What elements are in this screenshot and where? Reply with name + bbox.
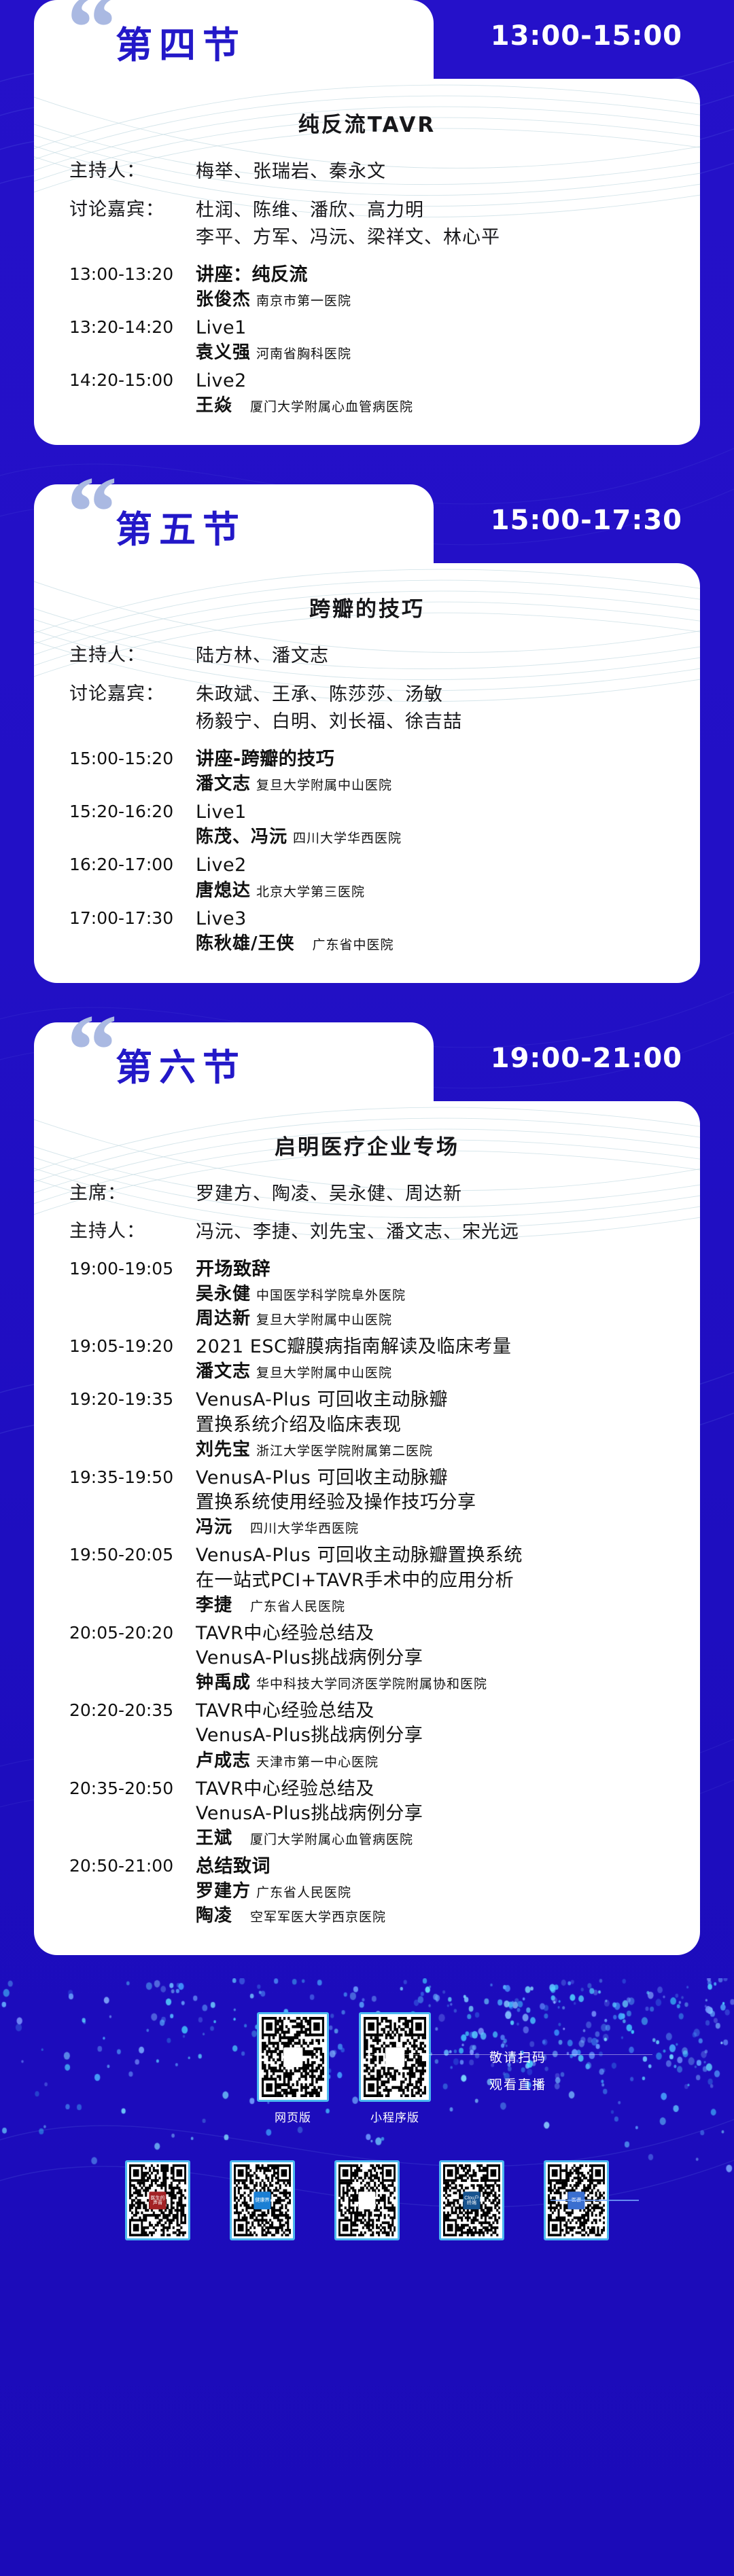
- speaker-name: 王焱: [196, 395, 232, 416]
- qr-logo-icon: 健康界: [254, 2192, 270, 2209]
- partner-qr-code[interactable]: 医生的声音: [125, 2160, 190, 2240]
- primary-qr-block[interactable]: 网页版: [257, 2012, 329, 2125]
- schedule-row: 20:05-20:20 TAVR中心经验总结及VenusA-Plus挑战病例分享…: [69, 1622, 670, 1695]
- qr-code-image: 医生的声音: [129, 2164, 186, 2236]
- primary-qr-block[interactable]: 小程序版: [359, 2012, 431, 2125]
- slot-content: TAVR中心经验总结及VenusA-Plus挑战病例分享 钟禹成华中科技大学同济…: [196, 1622, 670, 1695]
- slot-speaker: 刘先宝浙江大学医学院附属第二医院: [196, 1438, 670, 1462]
- schedule-row: 20:35-20:50 TAVR中心经验总结及VenusA-Plus挑战病例分享…: [69, 1777, 670, 1850]
- slot-title: TAVR中心经验总结及VenusA-Plus挑战病例分享: [196, 1699, 670, 1748]
- slot-speaker: 潘文志复旦大学附属中山医院: [196, 772, 670, 796]
- session-meta-row: 讨论嘉宾： 朱政斌、王承、陈莎莎、汤敏杨毅宁、白明、刘长福、徐吉喆: [69, 681, 670, 736]
- session-time-badge: 15:00-17:30: [491, 505, 682, 536]
- slot-title: Live3: [196, 907, 670, 931]
- qr-caption: 小程序版: [359, 2108, 431, 2125]
- slot-time: 16:20-17:00: [69, 853, 196, 874]
- speaker-organization: 中国医学科学院阜外医院: [256, 1288, 406, 1303]
- session-card: “ 第四节 13:00-15:00: [34, 0, 700, 445]
- slot-content: Live1 陈茂、冯沅四川大学华西医院: [196, 800, 670, 849]
- slot-speaker: 李捷广东省人民医院: [196, 1594, 670, 1617]
- slot-speaker: 潘文志复旦大学附属中山医院: [196, 1360, 670, 1384]
- session-body: 跨瓣的技巧 主持人： 陆方林、潘文志 讨论嘉宾： 朱政斌、王承、陈莎莎、汤敏杨毅…: [34, 563, 700, 983]
- slot-title: VenusA-Plus 可回收主动脉瓣置换系统在一站式PCI+TAVR手术中的应…: [196, 1543, 670, 1592]
- session-meta-names-line: 朱政斌、王承、陈莎莎、汤敏: [196, 681, 462, 709]
- poster-page: “ 第四节 13:00-15:00: [0, 0, 734, 2325]
- scan-hint-line-1: 敬请扫码: [489, 2045, 546, 2072]
- speaker-organization: 天津市第一中心医院: [256, 1755, 379, 1770]
- slot-content: VenusA-Plus 可回收主动脉瓣置换系统在一站式PCI+TAVR手术中的应…: [196, 1543, 670, 1617]
- slot-title: 2021 ESC瓣膜病指南解读及临床考量: [196, 1335, 670, 1359]
- slot-content: Live2 王焱厦门大学附属心血管病医院: [196, 369, 670, 418]
- speaker-organization: 厦门大学附属心血管病医院: [250, 399, 413, 414]
- qr-connector-line: [550, 2200, 639, 2201]
- slot-time: 19:50-20:05: [69, 1543, 196, 1564]
- speaker-organization: 广东省人民医院: [250, 1599, 345, 1614]
- qr-logo-icon: 医生的声音: [149, 2192, 166, 2209]
- slot-title-line: Live2: [196, 369, 670, 393]
- schedule-row: 17:00-17:30 Live3 陈秋雄/王侠广东省中医院: [69, 907, 670, 956]
- slot-title-line: VenusA-Plus挑战病例分享: [196, 1646, 670, 1670]
- slot-title-line: 开场致辞: [196, 1257, 670, 1282]
- session-meta-names-line: 杜润、陈维、潘欣、高力明: [196, 197, 500, 225]
- speaker-organization: 四川大学华西医院: [250, 1521, 359, 1536]
- slot-title: 开场致辞: [196, 1257, 670, 1282]
- session-title: 第四节: [116, 15, 246, 69]
- slot-content: TAVR中心经验总结及VenusA-Plus挑战病例分享 卢成志天津市第一中心医…: [196, 1699, 670, 1772]
- speaker-name: 罗建方: [196, 1881, 251, 1901]
- speaker-name: 刘先宝: [196, 1439, 251, 1460]
- slot-time: 20:50-21:00: [69, 1855, 196, 1876]
- slot-speaker: 袁义强河南省胸科医院: [196, 341, 670, 365]
- session-meta-label: 讨论嘉宾：: [69, 681, 196, 707]
- session-meta-names: 陆方林、潘文志: [196, 643, 329, 670]
- slot-title-line: 讲座：纯反流: [196, 263, 670, 287]
- qr-code-image: Clou户终端: [443, 2164, 500, 2236]
- session-meta-names-line: 梅举、张瑞岩、秦永文: [196, 158, 386, 186]
- speaker-name: 陈秋雄/王侠: [196, 933, 295, 954]
- session-meta-names-line: 杨毅宁、白明、刘长福、徐吉喆: [196, 709, 462, 736]
- speaker-name: 李捷: [196, 1595, 232, 1615]
- slot-speaker: 张俊杰南京市第一医院: [196, 288, 670, 312]
- slot-content: VenusA-Plus 可回收主动脉瓣置换系统介绍及临床表现 刘先宝浙江大学医学…: [196, 1388, 670, 1461]
- speaker-name: 袁义强: [196, 342, 251, 363]
- session-meta-label: 主持人：: [69, 1219, 196, 1245]
- session-card: “ 第五节 15:00-17:30: [34, 484, 700, 983]
- slot-speaker: 陈秋雄/王侠广东省中医院: [196, 932, 670, 956]
- speaker-name: 张俊杰: [196, 289, 251, 310]
- speaker-name: 潘文志: [196, 1361, 251, 1382]
- session-meta-names-line: 陆方林、潘文志: [196, 643, 329, 670]
- slot-content: 讲座：纯反流 张俊杰南京市第一医院: [196, 263, 670, 312]
- session-meta-names: 罗建方、陶凌、吴永健、周达新: [196, 1181, 462, 1209]
- speaker-organization: 空军军医大学西京医院: [250, 1910, 386, 1925]
- session-meta-label: 主持人：: [69, 158, 196, 184]
- slot-time: 13:20-14:20: [69, 316, 196, 337]
- session-rows: 主持人： 梅举、张瑞岩、秦永文 讨论嘉宾： 杜润、陈维、潘欣、高力明李平、方军、…: [34, 147, 700, 418]
- slot-title-line: 总结致词: [196, 1855, 670, 1879]
- session-meta-names: 梅举、张瑞岩、秦永文: [196, 158, 386, 186]
- slot-speaker: 陈茂、冯沅四川大学华西医院: [196, 825, 670, 849]
- speaker-organization: 复旦大学附属中山医院: [256, 1365, 392, 1380]
- speaker-name: 陶凌: [196, 1906, 232, 1926]
- speaker-organization: 厦门大学附属心血管病医院: [250, 1832, 413, 1847]
- slot-title: TAVR中心经验总结及VenusA-Plus挑战病例分享: [196, 1777, 670, 1826]
- session-title: 第五节: [116, 499, 246, 553]
- session-time-badge: 19:00-21:00: [491, 1043, 682, 1074]
- session-meta-row: 讨论嘉宾： 杜润、陈维、潘欣、高力明李平、方军、冯沅、梁祥文、林心平: [69, 197, 670, 252]
- schedule-row: 15:00-15:20 讲座-跨瓣的技巧 潘文志复旦大学附属中山医院: [69, 747, 670, 796]
- slot-content: 总结致词 罗建方广东省人民医院 陶凌空军军医大学西京医院: [196, 1855, 670, 1928]
- schedule-row: 20:20-20:35 TAVR中心经验总结及VenusA-Plus挑战病例分享…: [69, 1699, 670, 1772]
- slot-speaker: 王斌厦门大学附属心血管病医院: [196, 1827, 670, 1850]
- session-header: 第五节 15:00-17:30: [34, 484, 700, 563]
- partner-qr-code[interactable]: Clou户终端: [439, 2160, 504, 2240]
- slot-content: TAVR中心经验总结及VenusA-Plus挑战病例分享 王斌厦门大学附属心血管…: [196, 1777, 670, 1850]
- qr-code-image: 健康界: [234, 2164, 291, 2236]
- slot-title-line: 在一站式PCI+TAVR手术中的应用分析: [196, 1569, 670, 1593]
- speaker-name: 钟禹成: [196, 1672, 251, 1693]
- schedule-row: 19:35-19:50 VenusA-Plus 可回收主动脉瓣置换系统使用经验及…: [69, 1466, 670, 1539]
- slot-title-line: VenusA-Plus 可回收主动脉瓣: [196, 1388, 670, 1412]
- session-rows: 主席： 罗建方、陶凌、吴永健、周达新 主持人： 冯沅、李捷、刘先宝、潘文志、宋光…: [34, 1170, 700, 1929]
- session-meta-row: 主持人： 陆方林、潘文志: [69, 643, 670, 670]
- slot-time: 17:00-17:30: [69, 907, 196, 928]
- schedule-row: 19:50-20:05 VenusA-Plus 可回收主动脉瓣置换系统在一站式P…: [69, 1543, 670, 1617]
- slot-content: Live2 唐熄达北京大学第三医院: [196, 853, 670, 902]
- session-meta-label: 主持人：: [69, 643, 196, 668]
- slot-time: 19:00-19:05: [69, 1257, 196, 1278]
- session-meta-row: 主持人： 梅举、张瑞岩、秦永文: [69, 158, 670, 186]
- speaker-organization: 浙江大学医学院附属第二医院: [256, 1444, 433, 1459]
- slot-time: 14:20-15:00: [69, 369, 196, 390]
- partner-qr-code[interactable]: 健康界: [230, 2160, 295, 2240]
- slot-title-line: VenusA-Plus挑战病例分享: [196, 1723, 670, 1748]
- scan-hint-line-2: 观看直播: [489, 2072, 546, 2099]
- session-meta-names: 朱政斌、王承、陈莎莎、汤敏杨毅宁、白明、刘长福、徐吉喆: [196, 681, 462, 736]
- session-rows: 主持人： 陆方林、潘文志 讨论嘉宾： 朱政斌、王承、陈莎莎、汤敏杨毅宁、白明、刘…: [34, 632, 700, 956]
- session-time-badge: 13:00-15:00: [491, 20, 682, 52]
- speaker-organization: 华中科技大学同济医学院附属协和医院: [256, 1677, 487, 1692]
- slot-title: Live2: [196, 369, 670, 393]
- speaker-name: 周达新: [196, 1308, 251, 1329]
- schedule-row: 20:50-21:00 总结致词 罗建方广东省人民医院 陶凌空军军医大学西京医院: [69, 1855, 670, 1928]
- primary-qr-group: 网页版小程序版 敬请扫码 观看直播: [0, 2012, 734, 2125]
- qr-code[interactable]: [257, 2012, 329, 2102]
- slot-title: Live1: [196, 800, 670, 825]
- slot-speaker: 吴永健中国医学科学院阜外医院: [196, 1283, 670, 1306]
- schedule-row: 13:00-13:20 讲座：纯反流 张俊杰南京市第一医院: [69, 263, 670, 312]
- slot-title-line: VenusA-Plus挑战病例分享: [196, 1802, 670, 1826]
- qr-logo-icon: [358, 2192, 375, 2209]
- session-list: “ 第四节 13:00-15:00: [0, 0, 734, 1955]
- scan-hint: 敬请扫码 观看直播: [489, 2045, 546, 2099]
- slot-content: Live3 陈秋雄/王侠广东省中医院: [196, 907, 670, 956]
- speaker-name: 吴永健: [196, 1284, 251, 1304]
- slot-title: TAVR中心经验总结及VenusA-Plus挑战病例分享: [196, 1622, 670, 1670]
- slot-speaker: 陶凌空军军医大学西京医院: [196, 1904, 670, 1928]
- slot-speaker: 王焱厦门大学附属心血管病医院: [196, 394, 670, 418]
- session-meta-row: 主席： 罗建方、陶凌、吴永健、周达新: [69, 1181, 670, 1209]
- session-header: 第四节 13:00-15:00: [34, 0, 700, 79]
- slot-content: Live1 袁义强河南省胸科医院: [196, 316, 670, 365]
- qr-code-image: [364, 2017, 426, 2097]
- slot-speaker: 卢成志天津市第一中心医院: [196, 1749, 670, 1773]
- slot-speaker: 唐熄达北京大学第三医院: [196, 879, 670, 903]
- session-subject: 启明医疗企业专场: [34, 1101, 700, 1170]
- speaker-organization: 河南省胸科医院: [256, 346, 351, 361]
- qr-code-image: [338, 2164, 396, 2236]
- quote-mark-icon: “: [67, 0, 115, 79]
- session-subject: 跨瓣的技巧: [34, 563, 700, 632]
- session-subject: 纯反流TAVR: [34, 79, 700, 147]
- session-body: 纯反流TAVR 主持人： 梅举、张瑞岩、秦永文 讨论嘉宾： 杜润、陈维、潘欣、高…: [34, 79, 700, 445]
- session-header: 第六节 19:00-21:00: [34, 1022, 700, 1101]
- slot-time: 19:05-19:20: [69, 1335, 196, 1356]
- quote-mark-icon: “: [67, 461, 115, 563]
- session-meta-names-line: 罗建方、陶凌、吴永健、周达新: [196, 1181, 462, 1209]
- slot-title-line: Live3: [196, 907, 670, 931]
- speaker-organization: 四川大学华西医院: [293, 831, 402, 846]
- schedule-row: 16:20-17:00 Live2 唐熄达北京大学第三医院: [69, 853, 670, 902]
- slot-title-line: 2021 ESC瓣膜病指南解读及临床考量: [196, 1335, 670, 1359]
- slot-title-line: TAVR中心经验总结及: [196, 1699, 670, 1723]
- slot-title: VenusA-Plus 可回收主动脉瓣置换系统使用经验及操作技巧分享: [196, 1466, 670, 1515]
- schedule-row: 19:20-19:35 VenusA-Plus 可回收主动脉瓣置换系统介绍及临床…: [69, 1388, 670, 1461]
- schedule-row: 14:20-15:00 Live2 王焱厦门大学附属心血管病医院: [69, 369, 670, 418]
- qr-code[interactable]: [359, 2012, 431, 2102]
- schedule-row: 19:00-19:05 开场致辞 吴永健中国医学科学院阜外医院 周达新复旦大学附…: [69, 1257, 670, 1331]
- session-meta-label: 讨论嘉宾：: [69, 197, 196, 223]
- slot-title-line: 讲座-跨瓣的技巧: [196, 747, 670, 772]
- session-body: 启明医疗企业专场 主席： 罗建方、陶凌、吴永健、周达新 主持人： 冯沅、李捷、刘…: [34, 1101, 700, 1956]
- speaker-name: 陈茂、冯沅: [196, 827, 287, 847]
- speaker-organization: 南京市第一医院: [256, 293, 351, 308]
- slot-content: 2021 ESC瓣膜病指南解读及临床考量 潘文志复旦大学附属中山医院: [196, 1335, 670, 1384]
- slot-title-line: Live1: [196, 800, 670, 825]
- slot-time: 13:00-13:20: [69, 263, 196, 284]
- session-title: 第六节: [116, 1037, 246, 1091]
- slot-content: VenusA-Plus 可回收主动脉瓣置换系统使用经验及操作技巧分享 冯沅四川大…: [196, 1466, 670, 1539]
- qr-logo-icon: Clou户终端: [463, 2192, 480, 2209]
- quote-mark-icon: “: [67, 999, 115, 1101]
- slot-title-line: VenusA-Plus 可回收主动脉瓣: [196, 1466, 670, 1490]
- partner-qr-code[interactable]: [334, 2160, 400, 2240]
- slot-title-line: 置换系统使用经验及操作技巧分享: [196, 1490, 670, 1515]
- slot-speaker: 罗建方广东省人民医院: [196, 1880, 670, 1903]
- slot-speaker: 钟禹成华中科技大学同济医学院附属协和医院: [196, 1671, 670, 1695]
- schedule-row: 13:20-14:20 Live1 袁义强河南省胸科医院: [69, 316, 670, 365]
- slot-title-line: VenusA-Plus 可回收主动脉瓣置换系统: [196, 1543, 670, 1568]
- session-meta-names-line: 李平、方军、冯沅、梁祥文、林心平: [196, 224, 500, 252]
- session-meta-row: 主持人： 冯沅、李捷、刘先宝、潘文志、宋光远: [69, 1219, 670, 1247]
- slot-time: 19:35-19:50: [69, 1466, 196, 1487]
- slot-time: 19:20-19:35: [69, 1388, 196, 1409]
- slot-title-line: 置换系统介绍及临床表现: [196, 1413, 670, 1437]
- qr-code-image: [262, 2017, 324, 2097]
- qr-caption: 网页版: [257, 2108, 329, 2125]
- speaker-name: 王斌: [196, 1828, 232, 1848]
- slot-title: Live1: [196, 316, 670, 340]
- slot-time: 20:05-20:20: [69, 1622, 196, 1643]
- slot-title: 总结致词: [196, 1855, 670, 1879]
- slot-content: 开场致辞 吴永健中国医学科学院阜外医院 周达新复旦大学附属中山医院: [196, 1257, 670, 1331]
- speaker-organization: 广东省中医院: [313, 937, 394, 952]
- slot-speaker: 冯沅四川大学华西医院: [196, 1516, 670, 1539]
- speaker-organization: 复旦大学附属中山医院: [256, 1312, 392, 1327]
- slot-time: 20:20-20:35: [69, 1699, 196, 1720]
- slot-time: 15:20-16:20: [69, 800, 196, 821]
- session-card: “ 第六节 19:00-21:00: [34, 1022, 700, 1956]
- slot-title-line: TAVR中心经验总结及: [196, 1777, 670, 1802]
- speaker-name: 潘文志: [196, 774, 251, 794]
- slot-title-line: TAVR中心经验总结及: [196, 1622, 670, 1646]
- slot-speaker: 周达新复旦大学附属中山医院: [196, 1307, 670, 1331]
- slot-title: 讲座-跨瓣的技巧: [196, 747, 670, 772]
- speaker-name: 卢成志: [196, 1751, 251, 1771]
- slot-title: Live2: [196, 853, 670, 878]
- schedule-row: 19:05-19:20 2021 ESC瓣膜病指南解读及临床考量 潘文志复旦大学…: [69, 1335, 670, 1384]
- qr-logo-icon: [283, 2047, 302, 2067]
- speaker-organization: 复旦大学附属中山医院: [256, 778, 392, 793]
- session-meta-names-line: 冯沅、李捷、刘先宝、潘文志、宋光远: [196, 1219, 519, 1247]
- qr-logo-icon: [385, 2047, 404, 2067]
- schedule-row: 15:20-16:20 Live1 陈茂、冯沅四川大学华西医院: [69, 800, 670, 849]
- speaker-name: 唐熄达: [196, 880, 251, 901]
- slot-title-line: Live1: [196, 316, 670, 340]
- speaker-organization: 广东省人民医院: [256, 1885, 351, 1900]
- footer: 网页版小程序版 敬请扫码 观看直播 医生的声音健康界Clou户终端医谱: [0, 1978, 734, 2325]
- speaker-organization: 北京大学第三医院: [256, 884, 365, 899]
- slot-title: VenusA-Plus 可回收主动脉瓣置换系统介绍及临床表现: [196, 1388, 670, 1437]
- slot-time: 15:00-15:20: [69, 747, 196, 768]
- slot-time: 20:35-20:50: [69, 1777, 196, 1798]
- session-meta-names: 冯沅、李捷、刘先宝、潘文志、宋光远: [196, 1219, 519, 1247]
- session-meta-label: 主席：: [69, 1181, 196, 1206]
- slot-content: 讲座-跨瓣的技巧 潘文志复旦大学附属中山医院: [196, 747, 670, 796]
- slot-title: 讲座：纯反流: [196, 263, 670, 287]
- speaker-name: 冯沅: [196, 1517, 232, 1537]
- slot-title-line: Live2: [196, 853, 670, 878]
- session-meta-names: 杜润、陈维、潘欣、高力明李平、方军、冯沅、梁祥文、林心平: [196, 197, 500, 252]
